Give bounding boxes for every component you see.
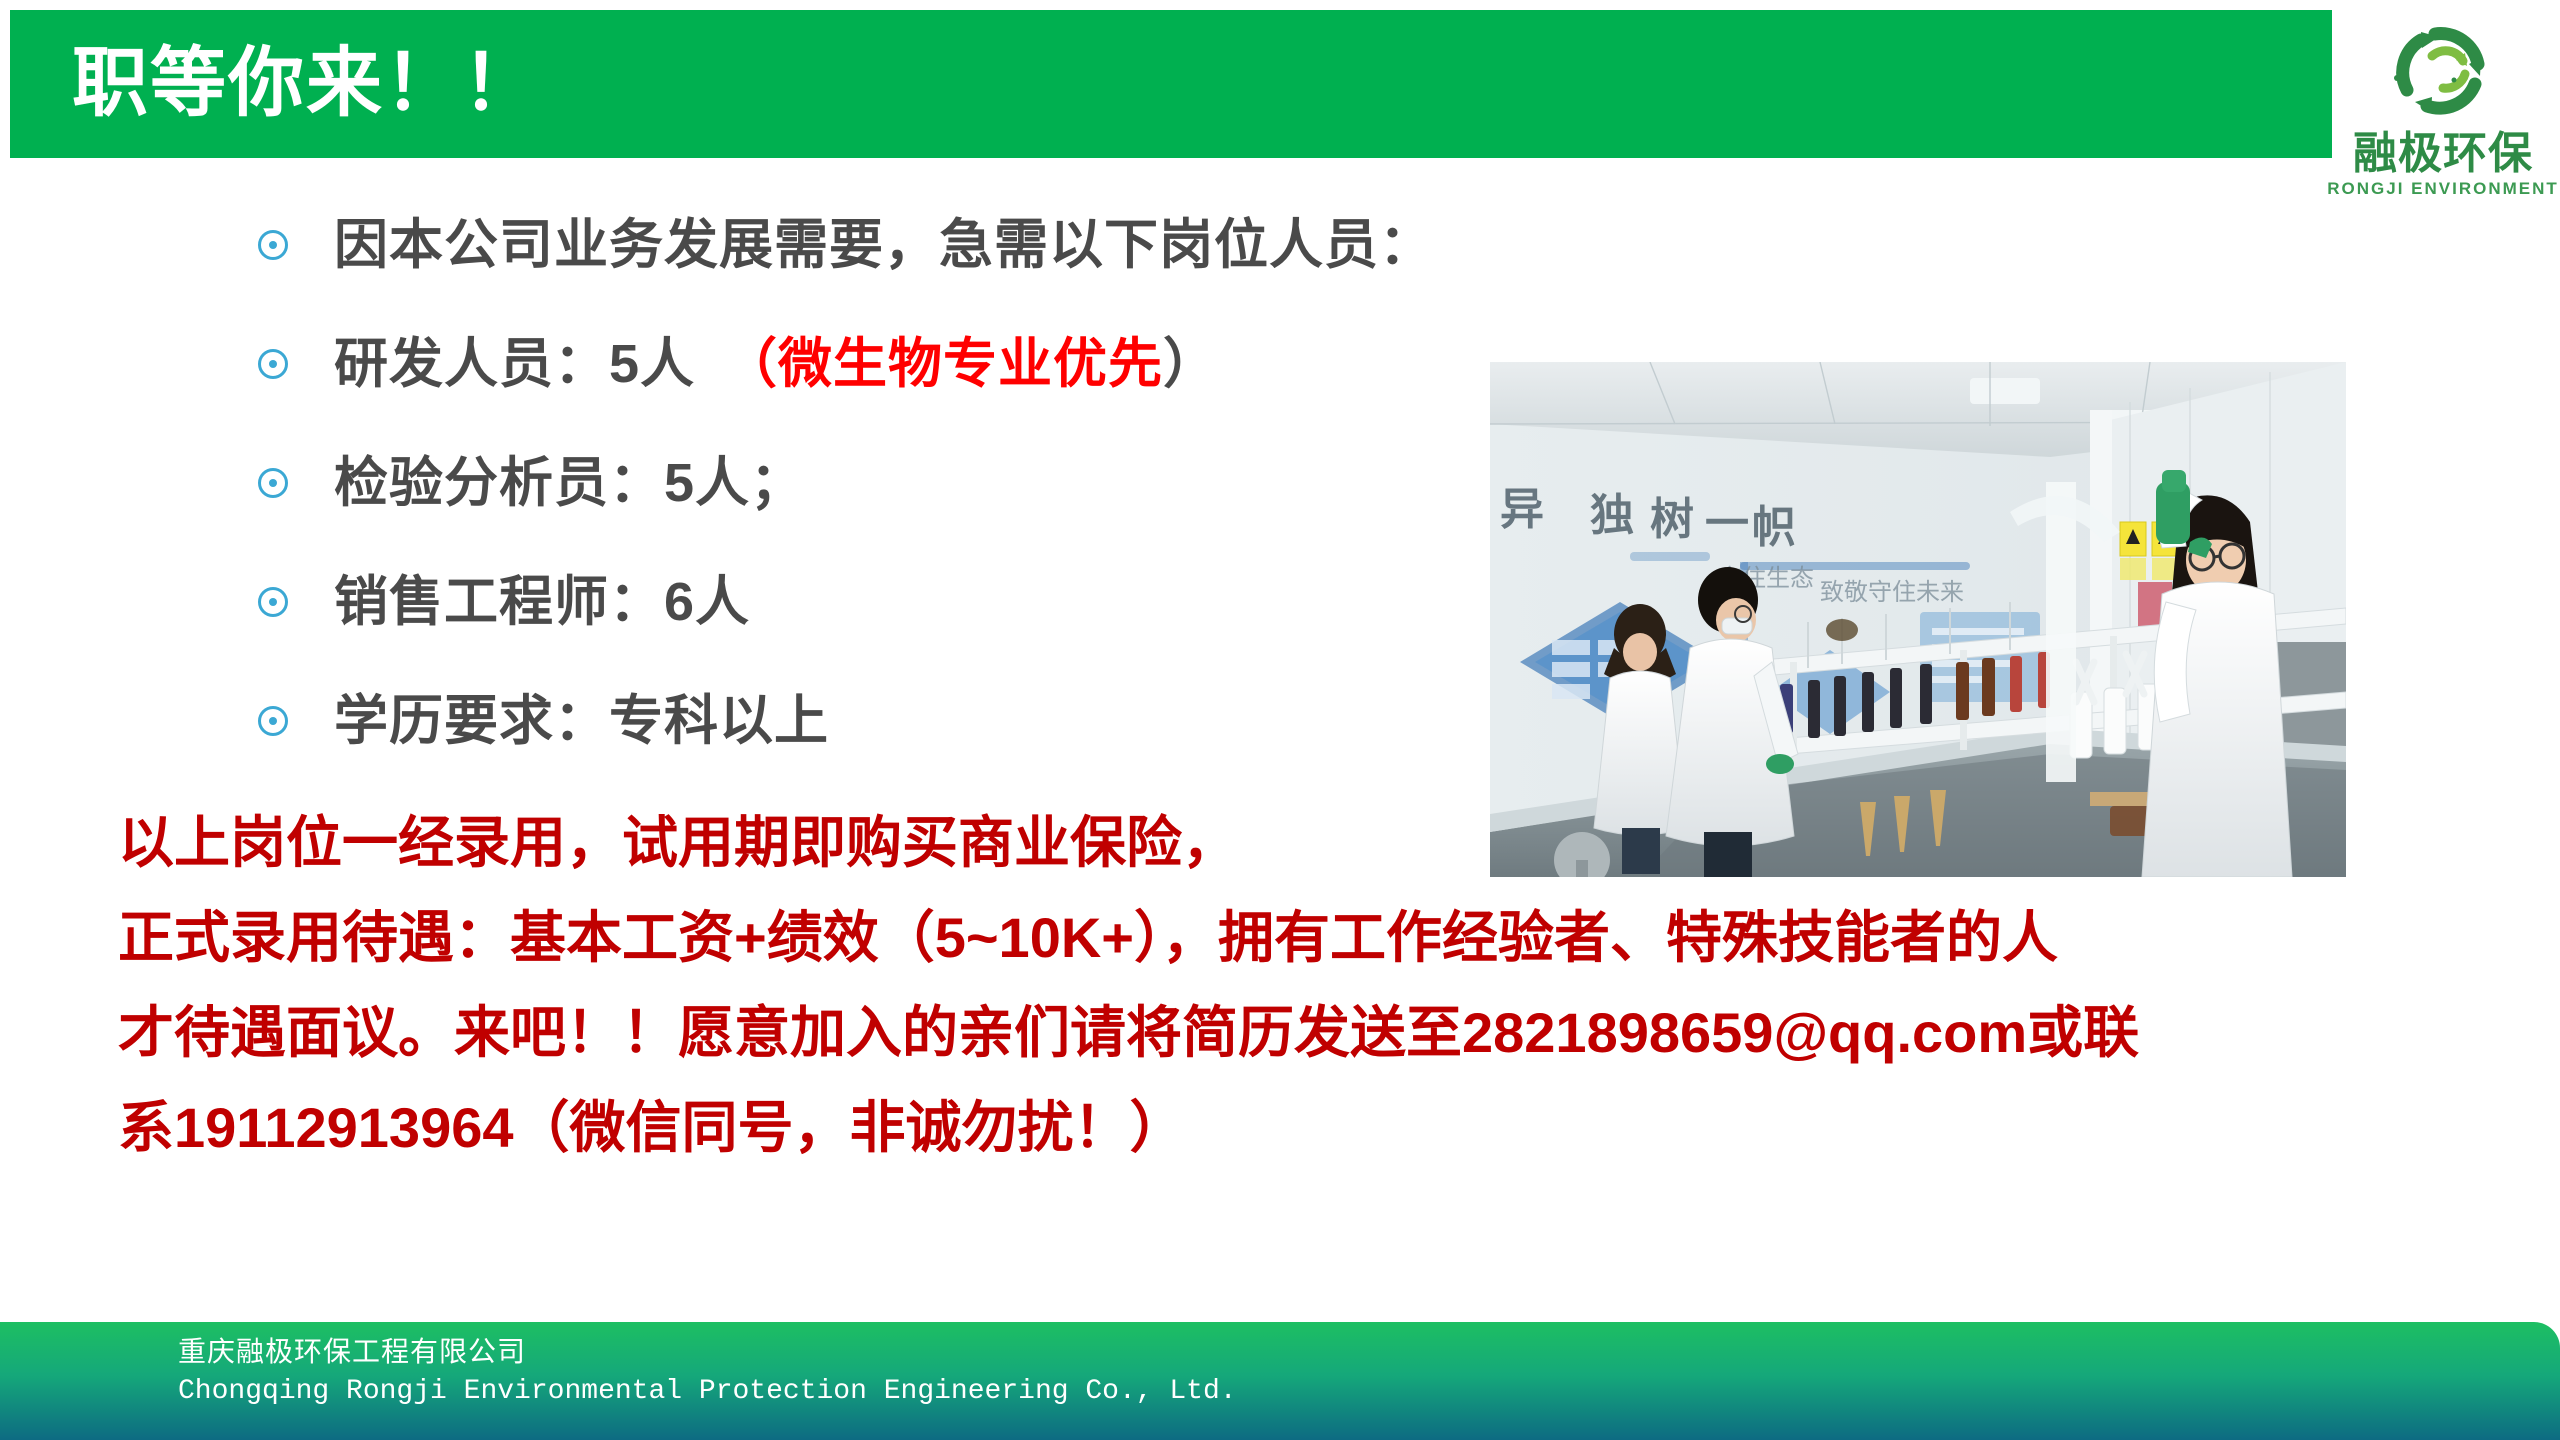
list-item-label: 因本公司业务发展需要，急需以下岗位人员： (334, 213, 1434, 277)
svg-text:异: 异 (1500, 484, 1544, 535)
list-item-highlight: （微生物专业优先 (750, 334, 1163, 394)
bullet-circle-icon (258, 230, 288, 260)
list-item: 销售工程师：6人 (258, 565, 1458, 639)
list-item: 研发人员：5人 （微生物专业优先） (258, 327, 1458, 401)
job-bullet-list: 因本公司业务发展需要，急需以下岗位人员： 研发人员：5人 （微生物专业优先） 检… (258, 208, 1458, 803)
list-item-label: 销售工程师：6人 (334, 570, 750, 634)
list-item-label: 学历要求：专科以上 (334, 689, 829, 753)
logo-name-cn: 融极环保 (2353, 129, 2533, 179)
footer-company-en: Chongqing Rongji Environmental Protectio… (178, 1374, 1237, 1410)
footer-company-cn: 重庆融极环保工程有限公司 (178, 1334, 526, 1370)
svg-text:独: 独 (1590, 490, 1634, 541)
svg-text:树: 树 (1650, 494, 1694, 545)
bullet-circle-icon (258, 349, 288, 379)
svg-text:致敬守住未来: 致敬守住未来 (1820, 578, 1964, 606)
list-item: 因本公司业务发展需要，急需以下岗位人员： (258, 208, 1458, 282)
list-item-label: 研发人员：5人 （微生物专业优先） (334, 332, 1218, 396)
bullet-circle-icon (258, 706, 288, 736)
list-item: 学历要求：专科以上 (258, 684, 1458, 758)
paragraph-line: 系19112913964（微信同号，非诚勿扰！） (118, 1080, 2498, 1175)
company-logo: 融极环保 RONGJI ENVIRONMENT (2332, 6, 2554, 214)
list-item-tail: ） (1163, 334, 1218, 394)
list-item-text: 研发人员：5人 (334, 334, 750, 394)
logo-name-en: RONGJI ENVIRONMENT (2327, 179, 2559, 199)
bullet-circle-icon (258, 468, 288, 498)
recycle-circle-icon (2377, 18, 2509, 127)
list-item: 检验分析员：5人； (258, 446, 1458, 520)
paragraph-line: 才待遇面议。来吧！！愿意加入的亲们请将简历发送至2821898659@qq.co… (118, 985, 2498, 1080)
paragraph-line: 正式录用待遇：基本工资+绩效（5~10K+），拥有工作经验者、特殊技能者的人 (118, 890, 2498, 985)
list-item-label: 检验分析员：5人； (334, 451, 805, 515)
svg-text:帜: 帜 (1752, 502, 1796, 553)
recruitment-details-paragraph: 以上岗位一经录用，试用期即购买商业保险， 正式录用待遇：基本工资+绩效（5~10… (118, 795, 2498, 1175)
bullet-circle-icon (258, 587, 288, 617)
title-banner: 职等你来！！ (10, 10, 2332, 158)
paragraph-line: 以上岗位一经录用，试用期即购买商业保险， (118, 795, 2498, 890)
page-title: 职等你来！！ (72, 24, 540, 144)
svg-text:一: 一 (1705, 498, 1749, 549)
